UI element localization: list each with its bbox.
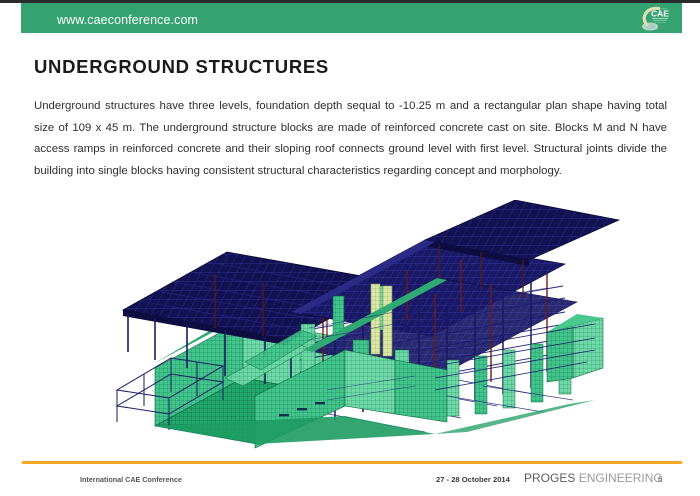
body-paragraph: Underground structures have three levels… — [34, 96, 667, 182]
page-number: 6 — [658, 475, 662, 484]
footer-brand-primary: PROGES — [524, 471, 575, 485]
slide-canvas: www.caeconference.com CAE — [0, 0, 700, 496]
header-bar: www.caeconference.com CAE — [21, 3, 682, 33]
footer-brand-secondary: ENGINEERING — [575, 471, 662, 485]
page-title: UNDERGROUND STRUCTURES — [34, 56, 329, 78]
header-website-url[interactable]: www.caeconference.com — [57, 13, 198, 27]
cae-conference-logo-icon: CAE — [640, 4, 670, 32]
footer-conference-name: International CAE Conference — [80, 475, 182, 484]
footer-divider — [22, 461, 682, 464]
structural-model-figure — [95, 200, 625, 450]
model-render — [117, 200, 619, 448]
footer-brand: PROGES ENGINEERING — [524, 471, 663, 485]
footer-date: 27 - 28 October 2014 — [436, 475, 510, 484]
svg-text:CAE: CAE — [651, 9, 669, 19]
